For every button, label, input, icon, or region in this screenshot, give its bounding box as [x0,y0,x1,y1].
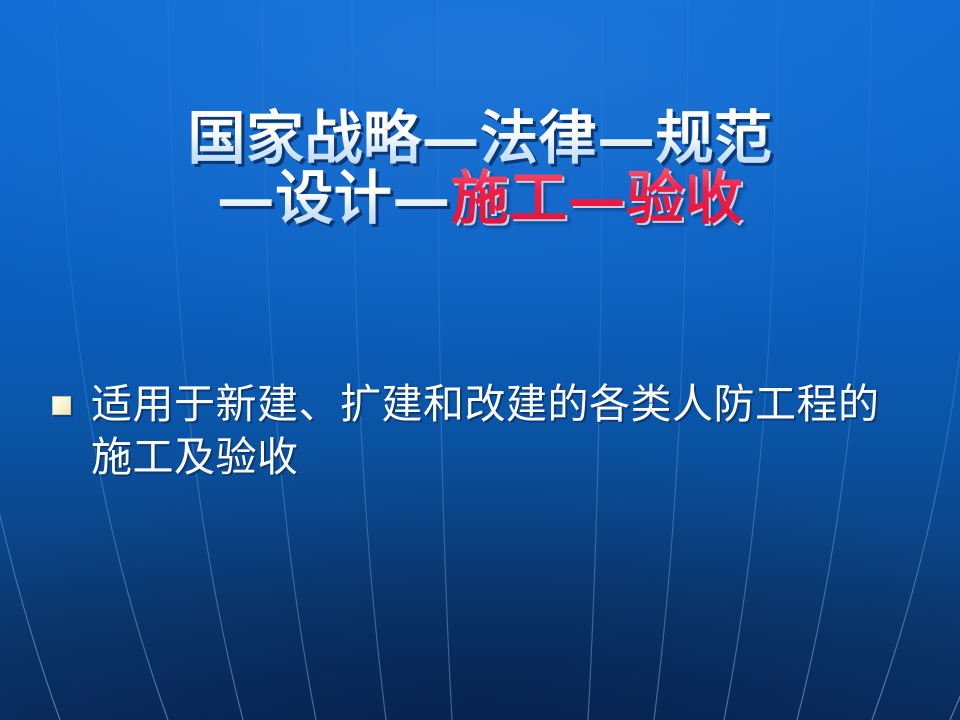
slide-body: 适用于新建、扩建和改建的各类人防工程的施工及验收 [52,378,912,485]
title-line-2-white-text: —设计— [217,164,451,232]
presentation-slide: 国家战略—法律—规范 —设计—施工—验收 适用于新建、扩建和改建的各类人防工程的… [0,0,960,720]
square-bullet-icon [52,396,71,415]
title-line-1-text: 国家战略—法律—规范 [187,104,772,172]
title-line-2: —设计—施工—验收 [0,168,960,228]
bullet-text: 适用于新建、扩建和改建的各类人防工程的施工及验收 [91,378,912,485]
title-line-2-red-text: 施工—验收 [451,164,744,232]
slide-title: 国家战略—法律—规范 —设计—施工—验收 [0,108,960,229]
title-line-1: 国家战略—法律—规范 [0,108,960,168]
list-item: 适用于新建、扩建和改建的各类人防工程的施工及验收 [52,378,912,485]
